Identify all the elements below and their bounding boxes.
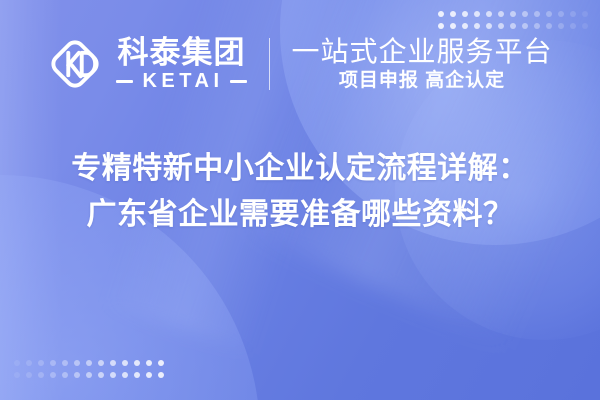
brand-name-en-row: KETAI xyxy=(116,71,246,91)
tagline-sub: 项目申报 高企认定 xyxy=(292,71,553,92)
headline-line-1: 专精特新中小企业认定流程详解： xyxy=(71,150,529,188)
dot-grid-bottom-left xyxy=(14,360,164,378)
dot xyxy=(98,372,104,378)
dot xyxy=(146,372,152,378)
brand-words: 科泰集团 KETAI xyxy=(116,37,246,91)
dot xyxy=(14,372,20,378)
brand-rule-right xyxy=(230,80,247,83)
brand-rule-left xyxy=(116,80,133,83)
dot xyxy=(26,360,32,366)
dot xyxy=(14,360,20,366)
dot xyxy=(158,372,164,378)
brand-lockup: 科泰集团 KETAI xyxy=(47,36,246,92)
tagline-main: 一站式企业服务平台 xyxy=(292,36,553,67)
dot xyxy=(86,372,92,378)
dot xyxy=(38,372,44,378)
headline-block: 专精特新中小企业认定流程详解： 广东省企业需要准备哪些资料？ xyxy=(0,150,600,235)
dot xyxy=(74,372,80,378)
dot xyxy=(38,360,44,366)
dot-row xyxy=(14,360,164,366)
dot xyxy=(50,360,56,366)
dot xyxy=(122,372,128,378)
header-divider xyxy=(269,38,270,90)
dot xyxy=(110,360,116,366)
ketai-diamond-kd-logo-icon xyxy=(47,36,103,92)
promo-banner: 科泰集团 KETAI 一站式企业服务平台 项目申报 高企认定 专精特新中小企业认… xyxy=(0,0,600,400)
dot xyxy=(62,372,68,378)
dot xyxy=(110,372,116,378)
brand-name-en: KETAI xyxy=(139,71,223,91)
dot xyxy=(146,360,152,366)
dot xyxy=(62,360,68,366)
headline-line-2: 广东省企业需要准备哪些资料？ xyxy=(87,196,514,234)
dot xyxy=(98,360,104,366)
dot xyxy=(50,372,56,378)
dot xyxy=(86,360,92,366)
dot xyxy=(122,360,128,366)
dot xyxy=(74,360,80,366)
dot-row xyxy=(14,372,164,378)
tagline-block: 一站式企业服务平台 项目申报 高企认定 xyxy=(292,36,553,92)
dot xyxy=(26,372,32,378)
brand-name-cn: 科泰集团 xyxy=(117,37,245,68)
banner-header: 科泰集团 KETAI 一站式企业服务平台 项目申报 高企认定 xyxy=(0,0,600,128)
dot xyxy=(158,360,164,366)
dot xyxy=(134,360,140,366)
dot xyxy=(134,372,140,378)
